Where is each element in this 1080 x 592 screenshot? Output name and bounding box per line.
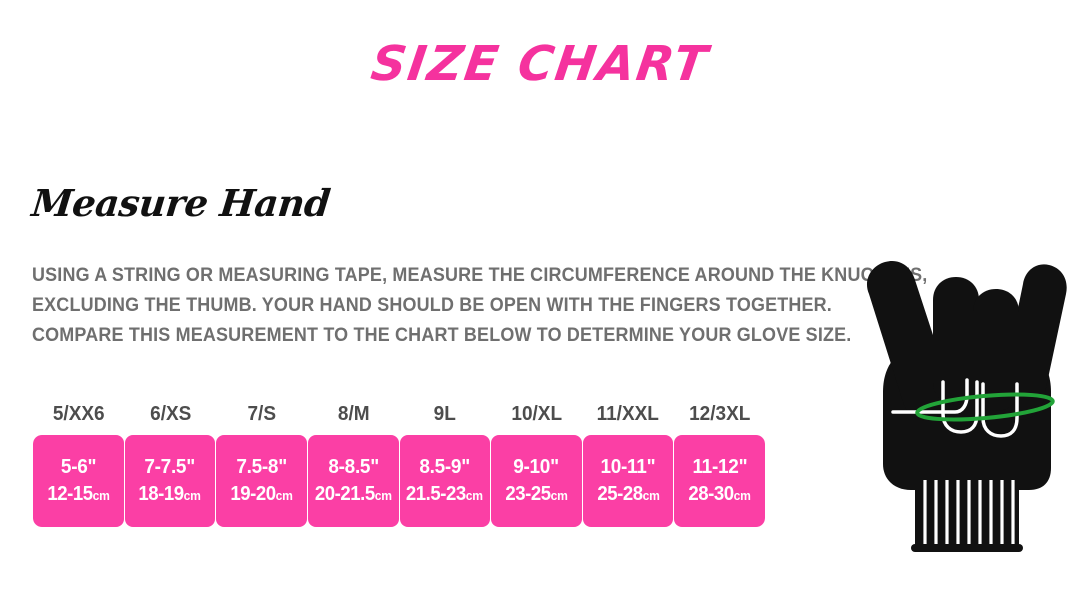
size-header-8m: 8/M	[310, 403, 397, 435]
size-cell-cm-unit: cm	[642, 488, 659, 503]
size-header-11xxl: 11/XXL	[584, 403, 671, 435]
size-cell-cm: 23-25cm	[505, 481, 567, 509]
size-cell-inches: 7-7.5"	[145, 454, 196, 481]
size-cell-inches: 10-11"	[601, 454, 656, 481]
size-cell-cm-value: 18-19	[139, 483, 184, 505]
size-cell-5xx6: 5-6" 12-15cm	[33, 435, 124, 527]
size-cell-cm-value: 25-28	[597, 483, 642, 505]
size-cell-cm-value: 28-30	[689, 483, 734, 505]
size-cell-cm: 25-28cm	[597, 481, 659, 509]
size-cell-cm-unit: cm	[184, 488, 201, 503]
size-cell-10xl: 9-10" 23-25cm	[491, 435, 582, 527]
size-header-10xl: 10/XL	[493, 403, 580, 435]
size-cell-cm-unit: cm	[276, 488, 293, 503]
size-cell-cm-value: 12-15	[47, 483, 92, 505]
size-cell-cm: 28-30cm	[689, 481, 751, 509]
size-cell-cm-unit: cm	[466, 488, 483, 503]
size-header-7s: 7/S	[218, 403, 305, 435]
size-cell-inches: 11-12"	[692, 454, 747, 481]
instructions-line-2: EXCLUDING THE THUMB. YOUR HAND SHOULD BE…	[32, 290, 768, 320]
size-cell-12-3xl: 11-12" 28-30cm	[674, 435, 765, 527]
size-cell-cm-value: 19-20	[230, 483, 275, 505]
size-cell-cm-value: 23-25	[505, 483, 550, 505]
size-header-6xs: 6/XS	[127, 403, 214, 435]
instructions-line-1: USING A STRING OR MEASURING TAPE, MEASUR…	[32, 260, 768, 290]
size-cell-9l: 8.5-9" 21.5-23cm	[400, 435, 491, 527]
glove-hand-icon	[867, 261, 1067, 552]
size-cell-cm-value: 20-21.5	[315, 483, 375, 505]
page-title: SIZE CHART	[0, 36, 1080, 92]
size-header-12-3xl: 12/3XL	[676, 403, 763, 435]
size-cell-cm-unit: cm	[734, 488, 751, 503]
instructions-paragraph: USING A STRING OR MEASURING TAPE, MEASUR…	[32, 260, 768, 350]
size-cell-cm-unit: cm	[92, 488, 109, 503]
size-cell-cm: 12-15cm	[47, 481, 109, 509]
size-table-value-band: 5-6" 12-15cm 7-7.5" 18-19cm 7.5-8" 19-20…	[33, 435, 765, 527]
size-header-5xx6: 5/XX6	[35, 403, 122, 435]
size-cell-cm: 18-19cm	[139, 481, 201, 509]
size-cell-inches: 7.5-8"	[236, 454, 287, 481]
glove-illustration	[855, 232, 1080, 562]
size-cell-cm: 21.5-23cm	[406, 481, 483, 509]
size-cell-cm-unit: cm	[375, 488, 392, 503]
size-cell-cm-value: 21.5-23	[406, 483, 466, 505]
size-cell-inches: 5-6"	[61, 454, 96, 481]
size-cell-cm-unit: cm	[551, 488, 568, 503]
size-cell-inches: 8-8.5"	[328, 454, 379, 481]
size-cell-7s: 7.5-8" 19-20cm	[216, 435, 307, 527]
instructions-line-3: COMPARE THIS MEASUREMENT TO THE CHART BE…	[32, 320, 768, 350]
size-cell-inches: 9-10"	[514, 454, 560, 481]
size-cell-8m: 8-8.5" 20-21.5cm	[308, 435, 399, 527]
size-table-header-row: 5/XX6 6/XS 7/S 8/M 9L 10/XL 11/XXL 12/3X…	[33, 403, 765, 435]
size-cell-cm: 19-20cm	[230, 481, 292, 509]
size-cell-6xs: 7-7.5" 18-19cm	[125, 435, 216, 527]
section-heading: Measure Hand	[30, 181, 332, 225]
size-cell-11xxl: 10-11" 25-28cm	[583, 435, 674, 527]
size-header-9l: 9L	[401, 403, 488, 435]
size-cell-cm: 20-21.5cm	[315, 481, 392, 509]
size-table: 5/XX6 6/XS 7/S 8/M 9L 10/XL 11/XXL 12/3X…	[33, 403, 765, 527]
size-cell-inches: 8.5-9"	[420, 454, 471, 481]
